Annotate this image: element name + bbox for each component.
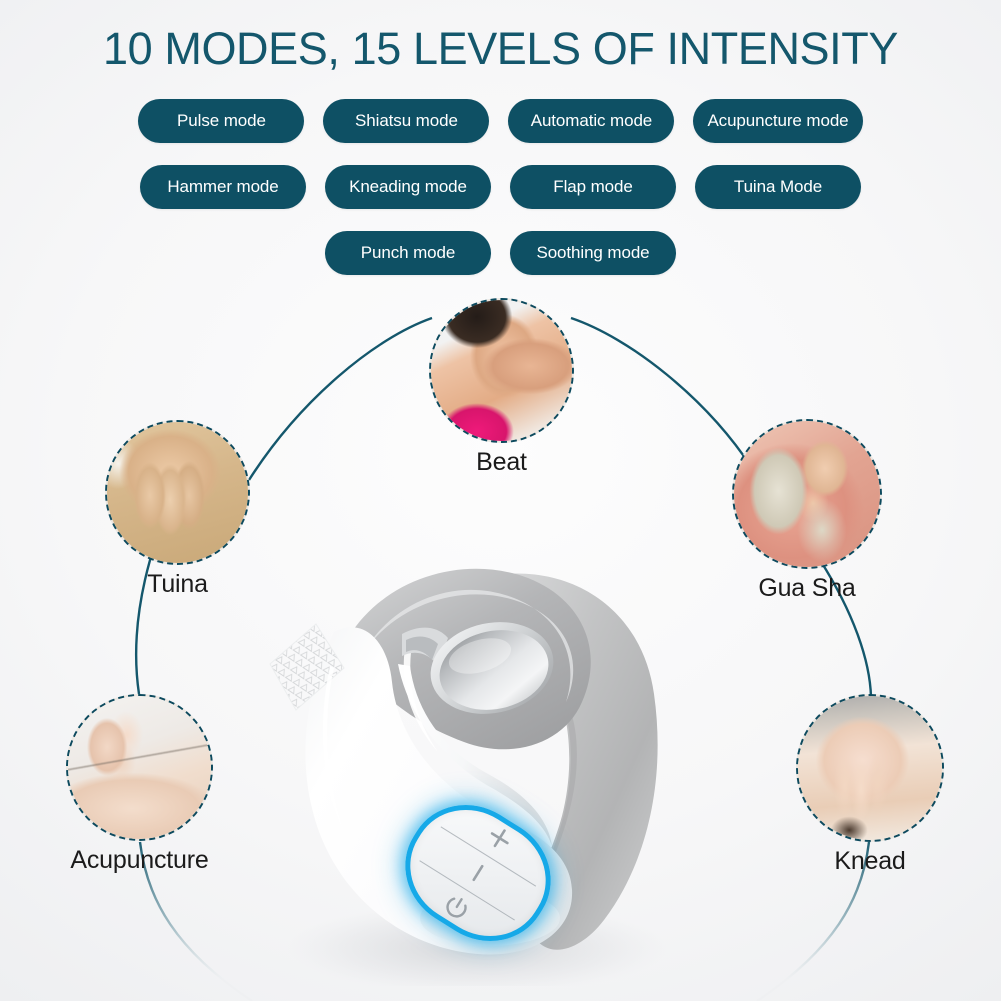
arc-tuina-beat (249, 318, 432, 480)
mode-pill-row-2: Hammer mode Kneading mode Flap mode Tuin… (0, 165, 1001, 209)
mode-pill-shiatsu[interactable]: Shiatsu mode (323, 99, 489, 143)
mode-pill-pulse[interactable]: Pulse mode (138, 99, 304, 143)
mode-pill-kneading[interactable]: Kneading mode (325, 165, 491, 209)
mode-pill-flap[interactable]: Flap mode (510, 165, 676, 209)
mode-pill-acupuncture[interactable]: Acupuncture mode (693, 99, 862, 143)
technique-node-acupuncture[interactable]: Acupuncture (66, 694, 213, 875)
technique-label-acupuncture: Acupuncture (66, 846, 213, 875)
technique-label-tuina: Tuina (105, 570, 250, 599)
technique-photo-tuina (105, 420, 250, 565)
technique-photo-beat (429, 298, 574, 443)
technique-photo-knead (796, 694, 944, 842)
technique-node-guasha[interactable]: Gua Sha (732, 419, 882, 603)
technique-photo-guasha (732, 419, 882, 569)
page-title: 10 MODES, 15 LEVELS OF INTENSITY (0, 22, 1001, 76)
mode-pill-row-1: Pulse mode Shiatsu mode Automatic mode A… (0, 99, 1001, 143)
mode-pill-hammer[interactable]: Hammer mode (140, 165, 306, 209)
technique-photo-acupuncture (66, 694, 213, 841)
mode-pill-automatic[interactable]: Automatic mode (508, 99, 674, 143)
mode-pill-row-3: Punch mode Soothing mode (0, 231, 1001, 275)
technique-node-tuina[interactable]: Tuina (105, 420, 250, 599)
technique-label-guasha: Gua Sha (732, 574, 882, 603)
infographic-canvas: 10 MODES, 15 LEVELS OF INTENSITY Pulse m… (0, 0, 1001, 1001)
mode-pill-tuina[interactable]: Tuina Mode (695, 165, 861, 209)
technique-node-knead[interactable]: Knead (796, 694, 944, 876)
technique-node-beat[interactable]: Beat (429, 298, 574, 477)
mode-pill-punch[interactable]: Punch mode (325, 231, 491, 275)
technique-label-knead: Knead (796, 847, 944, 876)
technique-label-beat: Beat (429, 448, 574, 477)
arc-beat-guasha (571, 318, 752, 468)
mode-pill-grid: Pulse mode Shiatsu mode Automatic mode A… (0, 99, 1001, 297)
mode-pill-soothing[interactable]: Soothing mode (510, 231, 676, 275)
